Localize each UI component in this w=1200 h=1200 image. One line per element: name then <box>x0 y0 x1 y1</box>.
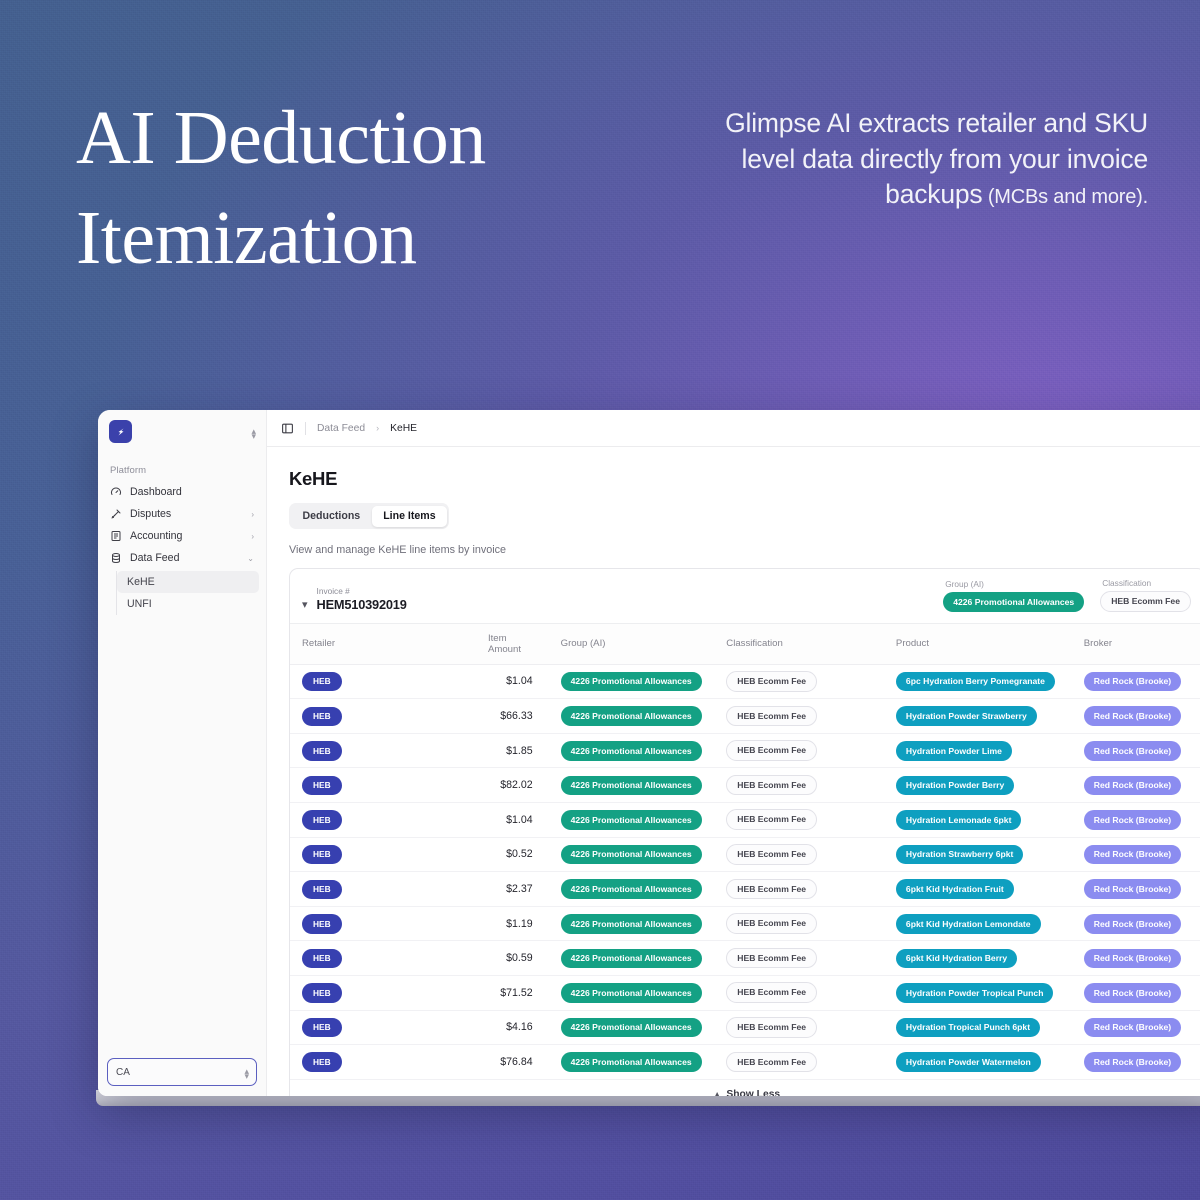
classification-badge[interactable]: HEB Ecomm Fee <box>726 913 817 934</box>
line-items-table: Retailer Item Amount Group (AI) Classifi… <box>290 624 1200 1080</box>
cell-item-amount: $2.37 <box>488 872 561 907</box>
cell-item-amount: $1.19 <box>488 906 561 941</box>
broker-badge[interactable]: Red Rock (Brooke) <box>1084 672 1181 692</box>
cell-group: 4226 Promotional Allowances <box>561 837 727 872</box>
table-row[interactable]: HEB$76.844226 Promotional AllowancesHEB … <box>290 1045 1200 1080</box>
invoice-header-tags: Group (AI) 4226 Promotional Allowances C… <box>943 578 1191 612</box>
cell-group: 4226 Promotional Allowances <box>561 802 727 837</box>
column-header-classification[interactable]: Classification <box>726 624 896 665</box>
cell-product: Hydration Powder Lime <box>896 733 1084 768</box>
headline-line-2: Itemization <box>76 188 676 288</box>
cell-retailer: HEB <box>290 802 488 837</box>
cell-retailer: HEB <box>290 733 488 768</box>
cell-broker: Red Rock (Brooke) <box>1084 733 1200 768</box>
retailer-badge[interactable]: HEB <box>302 845 342 864</box>
chevron-right-icon: › <box>251 532 254 541</box>
cell-group: 4226 Promotional Allowances <box>561 941 727 976</box>
sidebar-item-label: Dashboard <box>130 486 254 498</box>
group-badge[interactable]: 4226 Promotional Allowances <box>561 672 702 692</box>
show-less-button[interactable]: ▴ Show Less <box>290 1080 1200 1096</box>
group-badge[interactable]: 4226 Promotional Allowances <box>561 1052 702 1072</box>
classification-badge[interactable]: HEB Ecomm Fee <box>726 844 817 865</box>
invoice-header[interactable]: ▾ Invoice # HEM510392019 Group (AI) 4226… <box>290 569 1200 624</box>
retailer-badge[interactable]: HEB <box>302 880 342 899</box>
classification-badge[interactable]: HEB Ecomm Fee <box>726 775 817 796</box>
topbar-divider <box>305 422 306 435</box>
cell-retailer: HEB <box>290 837 488 872</box>
cell-classification: HEB Ecomm Fee <box>726 802 896 837</box>
product-badge[interactable]: Hydration Strawberry 6pkt <box>896 845 1023 865</box>
cell-product: 6pkt Kid Hydration Fruit <box>896 872 1084 907</box>
sidebar-item-accounting[interactable]: Accounting › <box>105 525 259 547</box>
cell-item-amount: $71.52 <box>488 975 561 1010</box>
cell-product: 6pkt Kid Hydration Berry <box>896 941 1084 976</box>
table-row[interactable]: HEB$0.594226 Promotional AllowancesHEB E… <box>290 941 1200 976</box>
cell-product: Hydration Powder Tropical Punch <box>896 975 1084 1010</box>
cell-classification: HEB Ecomm Fee <box>726 837 896 872</box>
table-row[interactable]: HEB$4.164226 Promotional AllowancesHEB E… <box>290 1010 1200 1045</box>
chevron-up-down-icon: ▴▾ <box>244 1067 248 1077</box>
table-header-row: Retailer Item Amount Group (AI) Classifi… <box>290 624 1200 665</box>
broker-badge[interactable]: Red Rock (Brooke) <box>1084 1018 1181 1038</box>
cell-group: 4226 Promotional Allowances <box>561 1045 727 1080</box>
chevron-down-icon[interactable]: ▾ <box>302 598 308 611</box>
page-description: View and manage KeHE line items by invoi… <box>289 544 1200 556</box>
invoice-number-value: HEM510392019 <box>317 597 407 612</box>
invoice-classification-label: Classification <box>1100 578 1151 588</box>
cell-retailer: HEB <box>290 975 488 1010</box>
cell-item-amount: $1.04 <box>488 664 561 699</box>
cell-retailer: HEB <box>290 1045 488 1080</box>
column-header-broker[interactable]: Broker <box>1084 624 1200 665</box>
tab-line-items[interactable]: Line Items <box>372 506 446 527</box>
cell-product: Hydration Strawberry 6pkt <box>896 837 1084 872</box>
sidebar-item-disputes[interactable]: Disputes › <box>105 503 259 525</box>
retailer-badge[interactable]: HEB <box>302 1018 342 1037</box>
cell-classification: HEB Ecomm Fee <box>726 975 896 1010</box>
classification-badge[interactable]: HEB Ecomm Fee <box>726 740 817 761</box>
cell-product: Hydration Powder Strawberry <box>896 699 1084 734</box>
group-badge[interactable]: 4226 Promotional Allowances <box>561 706 702 726</box>
classification-badge[interactable]: HEB Ecomm Fee <box>726 982 817 1003</box>
page-title: KeHE <box>289 468 1200 490</box>
poster-subheadline: Glimpse AI extracts retailer and SKU lev… <box>678 106 1148 213</box>
cell-retailer: HEB <box>290 872 488 907</box>
table-row[interactable]: HEB$1.044226 Promotional AllowancesHEB E… <box>290 664 1200 699</box>
sidebar-item-unfi[interactable]: UNFI <box>117 593 259 615</box>
cell-group: 4226 Promotional Allowances <box>561 1010 727 1045</box>
cell-group: 4226 Promotional Allowances <box>561 664 727 699</box>
account-name: CA <box>116 1067 130 1078</box>
cell-classification: HEB Ecomm Fee <box>726 1010 896 1045</box>
table-row[interactable]: HEB$2.374226 Promotional AllowancesHEB E… <box>290 872 1200 907</box>
cell-group: 4226 Promotional Allowances <box>561 975 727 1010</box>
cell-broker: Red Rock (Brooke) <box>1084 664 1200 699</box>
breadcrumb-item-kehe[interactable]: KeHE <box>390 423 417 434</box>
table-row[interactable]: HEB$0.524226 Promotional AllowancesHEB E… <box>290 837 1200 872</box>
cell-classification: HEB Ecomm Fee <box>726 699 896 734</box>
document-icon <box>110 530 122 542</box>
sidebar-header: ▴ ▾ <box>98 410 266 451</box>
invoice-number-label: Invoice # <box>317 586 407 596</box>
sidebar-subitems: KeHE UNFI <box>116 571 266 615</box>
cell-classification: HEB Ecomm Fee <box>726 872 896 907</box>
cell-broker: Red Rock (Brooke) <box>1084 906 1200 941</box>
cell-retailer: HEB <box>290 664 488 699</box>
classification-badge[interactable]: HEB Ecomm Fee <box>726 671 817 692</box>
cell-group: 4226 Promotional Allowances <box>561 733 727 768</box>
retailer-badge[interactable]: HEB <box>302 949 342 968</box>
retailer-badge[interactable]: HEB <box>302 672 342 691</box>
cell-product: Hydration Powder Watermelon <box>896 1045 1084 1080</box>
cell-broker: Red Rock (Brooke) <box>1084 699 1200 734</box>
table-header: Retailer Item Amount Group (AI) Classifi… <box>290 624 1200 665</box>
cell-classification: HEB Ecomm Fee <box>726 941 896 976</box>
cell-group: 4226 Promotional Allowances <box>561 872 727 907</box>
main-content: Data Feed › KeHE KeHE Deductions Line It… <box>267 410 1200 1096</box>
group-badge[interactable]: 4226 Promotional Allowances <box>561 1018 702 1038</box>
retailer-badge[interactable]: HEB <box>302 741 342 760</box>
column-header-group[interactable]: Group (AI) <box>561 624 727 665</box>
retailer-badge[interactable]: HEB <box>302 1052 342 1071</box>
group-badge[interactable]: 4226 Promotional Allowances <box>561 776 702 796</box>
group-badge[interactable]: 4226 Promotional Allowances <box>561 983 702 1003</box>
cell-broker: Red Rock (Brooke) <box>1084 975 1200 1010</box>
cell-broker: Red Rock (Brooke) <box>1084 837 1200 872</box>
broker-badge[interactable]: Red Rock (Brooke) <box>1084 914 1181 934</box>
cell-retailer: HEB <box>290 1010 488 1045</box>
poster-headline: AI Deduction Itemization <box>76 88 676 289</box>
column-header-product[interactable]: Product <box>896 624 1084 665</box>
headline-line-1: AI Deduction <box>76 88 676 188</box>
table-row[interactable]: HEB$1.854226 Promotional AllowancesHEB E… <box>290 733 1200 768</box>
classification-badge[interactable]: HEB Ecomm Fee <box>726 879 817 900</box>
retailer-badge[interactable]: HEB <box>302 914 342 933</box>
sidebar-item-dashboard[interactable]: Dashboard <box>105 481 259 503</box>
cell-broker: Red Rock (Brooke) <box>1084 768 1200 803</box>
cell-broker: Red Rock (Brooke) <box>1084 1010 1200 1045</box>
cell-retailer: HEB <box>290 768 488 803</box>
table-row[interactable]: HEB$66.334226 Promotional AllowancesHEB … <box>290 699 1200 734</box>
cell-group: 4226 Promotional Allowances <box>561 768 727 803</box>
product-badge[interactable]: 6pkt Kid Hydration Lemondate <box>896 914 1041 934</box>
table-row[interactable]: HEB$1.044226 Promotional AllowancesHEB E… <box>290 802 1200 837</box>
sidebar-section-label: Platform <box>98 451 266 481</box>
table-body: HEB$1.044226 Promotional AllowancesHEB E… <box>290 664 1200 1079</box>
cell-item-amount: $76.84 <box>488 1045 561 1080</box>
product-badge[interactable]: Hydration Powder Berry <box>896 776 1014 796</box>
cell-item-amount: $4.16 <box>488 1010 561 1045</box>
sidebar-item-label: Disputes <box>130 508 243 520</box>
broker-badge[interactable]: Red Rock (Brooke) <box>1084 845 1181 865</box>
product-badge[interactable]: Hydration Tropical Punch 6pkt <box>896 1018 1040 1038</box>
product-badge[interactable]: 6pc Hydration Berry Pomegranate <box>896 672 1055 692</box>
broker-badge[interactable]: Red Rock (Brooke) <box>1084 1052 1181 1072</box>
cell-item-amount: $0.52 <box>488 837 561 872</box>
sidebar-item-label: Accounting <box>130 530 243 542</box>
group-badge[interactable]: 4226 Promotional Allowances <box>561 741 702 761</box>
cell-item-amount: $0.59 <box>488 941 561 976</box>
cell-product: 6pc Hydration Berry Pomegranate <box>896 664 1084 699</box>
invoice-meta: Invoice # HEM510392019 <box>317 586 407 612</box>
classification-badge[interactable]: HEB Ecomm Fee <box>726 809 817 830</box>
column-header-retailer[interactable]: Retailer <box>290 624 488 665</box>
broker-badge[interactable]: Red Rock (Brooke) <box>1084 810 1181 830</box>
database-icon <box>110 552 122 564</box>
product-badge[interactable]: Hydration Lemonade 6pkt <box>896 810 1022 830</box>
sidebar-item-kehe[interactable]: KeHE <box>117 571 259 593</box>
cell-product: 6pkt Kid Hydration Lemondate <box>896 906 1084 941</box>
sidebar-item-label: Data Feed <box>130 552 239 564</box>
classification-badge[interactable]: HEB Ecomm Fee <box>726 1052 817 1073</box>
panel-left-icon[interactable] <box>281 422 294 435</box>
retailer-badge[interactable]: HEB <box>302 810 342 829</box>
invoice-classification-badge[interactable]: HEB Ecomm Fee <box>1100 591 1191 612</box>
cell-group: 4226 Promotional Allowances <box>561 906 727 941</box>
group-badge[interactable]: 4226 Promotional Allowances <box>561 914 702 934</box>
cell-item-amount: $82.02 <box>488 768 561 803</box>
product-badge[interactable]: Hydration Powder Strawberry <box>896 706 1037 726</box>
group-badge[interactable]: 4226 Promotional Allowances <box>561 845 702 865</box>
table-row[interactable]: HEB$82.024226 Promotional AllowancesHEB … <box>290 768 1200 803</box>
cell-broker: Red Rock (Brooke) <box>1084 802 1200 837</box>
chevron-up-icon: ▴ <box>715 1089 720 1096</box>
broker-badge[interactable]: Red Rock (Brooke) <box>1084 776 1181 796</box>
cell-classification: HEB Ecomm Fee <box>726 1045 896 1080</box>
product-badge[interactable]: Hydration Powder Watermelon <box>896 1052 1041 1072</box>
account-selector[interactable]: CA ▴▾ <box>107 1058 257 1086</box>
show-less-label: Show Less <box>726 1089 780 1096</box>
cell-product: Hydration Lemonade 6pkt <box>896 802 1084 837</box>
workspace-switcher-button[interactable]: ▴ ▾ <box>251 427 255 437</box>
chevron-right-icon: › <box>251 510 254 519</box>
product-badge[interactable]: Hydration Powder Tropical Punch <box>896 983 1054 1003</box>
classification-badge[interactable]: HEB Ecomm Fee <box>726 706 817 727</box>
cell-product: Hydration Tropical Punch 6pkt <box>896 1010 1084 1045</box>
app-window: ▴ ▾ Platform Dashboard Disputes › <box>98 410 1200 1096</box>
product-badge[interactable]: Hydration Powder Lime <box>896 741 1012 761</box>
sidebar-footer: CA ▴▾ <box>98 1058 266 1096</box>
retailer-badge[interactable]: HEB <box>302 776 342 795</box>
table-row[interactable]: HEB$71.524226 Promotional AllowancesHEB … <box>290 975 1200 1010</box>
cell-group: 4226 Promotional Allowances <box>561 699 727 734</box>
chevron-down-icon: ⌄ <box>247 554 254 563</box>
group-badge[interactable]: 4226 Promotional Allowances <box>561 810 702 830</box>
cell-classification: HEB Ecomm Fee <box>726 664 896 699</box>
cell-item-amount: $1.85 <box>488 733 561 768</box>
invoice-card: ▾ Invoice # HEM510392019 Group (AI) 4226… <box>289 568 1200 1096</box>
invoice-group-label: Group (AI) <box>943 579 984 589</box>
tab-group: Deductions Line Items <box>289 503 449 529</box>
cell-retailer: HEB <box>290 906 488 941</box>
gauge-icon <box>110 486 122 498</box>
sidebar-item-data-feed[interactable]: Data Feed ⌄ <box>105 547 259 569</box>
broker-badge[interactable]: Red Rock (Brooke) <box>1084 949 1181 969</box>
invoice-classification-col: Classification HEB Ecomm Fee <box>1100 578 1191 612</box>
invoice-group-badge[interactable]: 4226 Promotional Allowances <box>943 592 1084 612</box>
product-badge[interactable]: 6pkt Kid Hydration Berry <box>896 949 1017 969</box>
subheadline-parenthetical: (MCBs and more). <box>982 186 1148 208</box>
sidebar: ▴ ▾ Platform Dashboard Disputes › <box>98 410 267 1096</box>
breadcrumb-separator: › <box>376 423 379 433</box>
cell-item-amount: $1.04 <box>488 802 561 837</box>
retailer-badge[interactable]: HEB <box>302 983 342 1002</box>
top-bar: Data Feed › KeHE <box>267 410 1200 447</box>
glimpse-logo-icon <box>115 426 127 438</box>
product-badge[interactable]: 6pkt Kid Hydration Fruit <box>896 879 1014 899</box>
broker-badge[interactable]: Red Rock (Brooke) <box>1084 706 1181 726</box>
cell-item-amount: $66.33 <box>488 699 561 734</box>
cell-product: Hydration Powder Berry <box>896 768 1084 803</box>
app-logo[interactable] <box>109 420 132 443</box>
breadcrumb-item-data-feed[interactable]: Data Feed <box>317 423 365 434</box>
cell-broker: Red Rock (Brooke) <box>1084 1045 1200 1080</box>
retailer-badge[interactable]: HEB <box>302 707 342 726</box>
broker-badge[interactable]: Red Rock (Brooke) <box>1084 741 1181 761</box>
broker-badge[interactable]: Red Rock (Brooke) <box>1084 879 1181 899</box>
group-badge[interactable]: 4226 Promotional Allowances <box>561 879 702 899</box>
classification-badge[interactable]: HEB Ecomm Fee <box>726 1017 817 1038</box>
broker-badge[interactable]: Red Rock (Brooke) <box>1084 983 1181 1003</box>
cell-retailer: HEB <box>290 699 488 734</box>
cell-classification: HEB Ecomm Fee <box>726 906 896 941</box>
column-header-item-amount[interactable]: Item Amount <box>488 624 561 665</box>
tab-deductions[interactable]: Deductions <box>292 506 372 527</box>
group-badge[interactable]: 4226 Promotional Allowances <box>561 949 702 969</box>
classification-badge[interactable]: HEB Ecomm Fee <box>726 948 817 969</box>
invoice-group-col: Group (AI) 4226 Promotional Allowances <box>943 579 1084 612</box>
cell-classification: HEB Ecomm Fee <box>726 768 896 803</box>
gavel-icon <box>110 508 122 520</box>
cell-retailer: HEB <box>290 941 488 976</box>
cell-classification: HEB Ecomm Fee <box>726 733 896 768</box>
cell-broker: Red Rock (Brooke) <box>1084 872 1200 907</box>
table-row[interactable]: HEB$1.194226 Promotional AllowancesHEB E… <box>290 906 1200 941</box>
page-body: KeHE Deductions Line Items View and mana… <box>267 447 1200 1096</box>
cell-broker: Red Rock (Brooke) <box>1084 941 1200 976</box>
